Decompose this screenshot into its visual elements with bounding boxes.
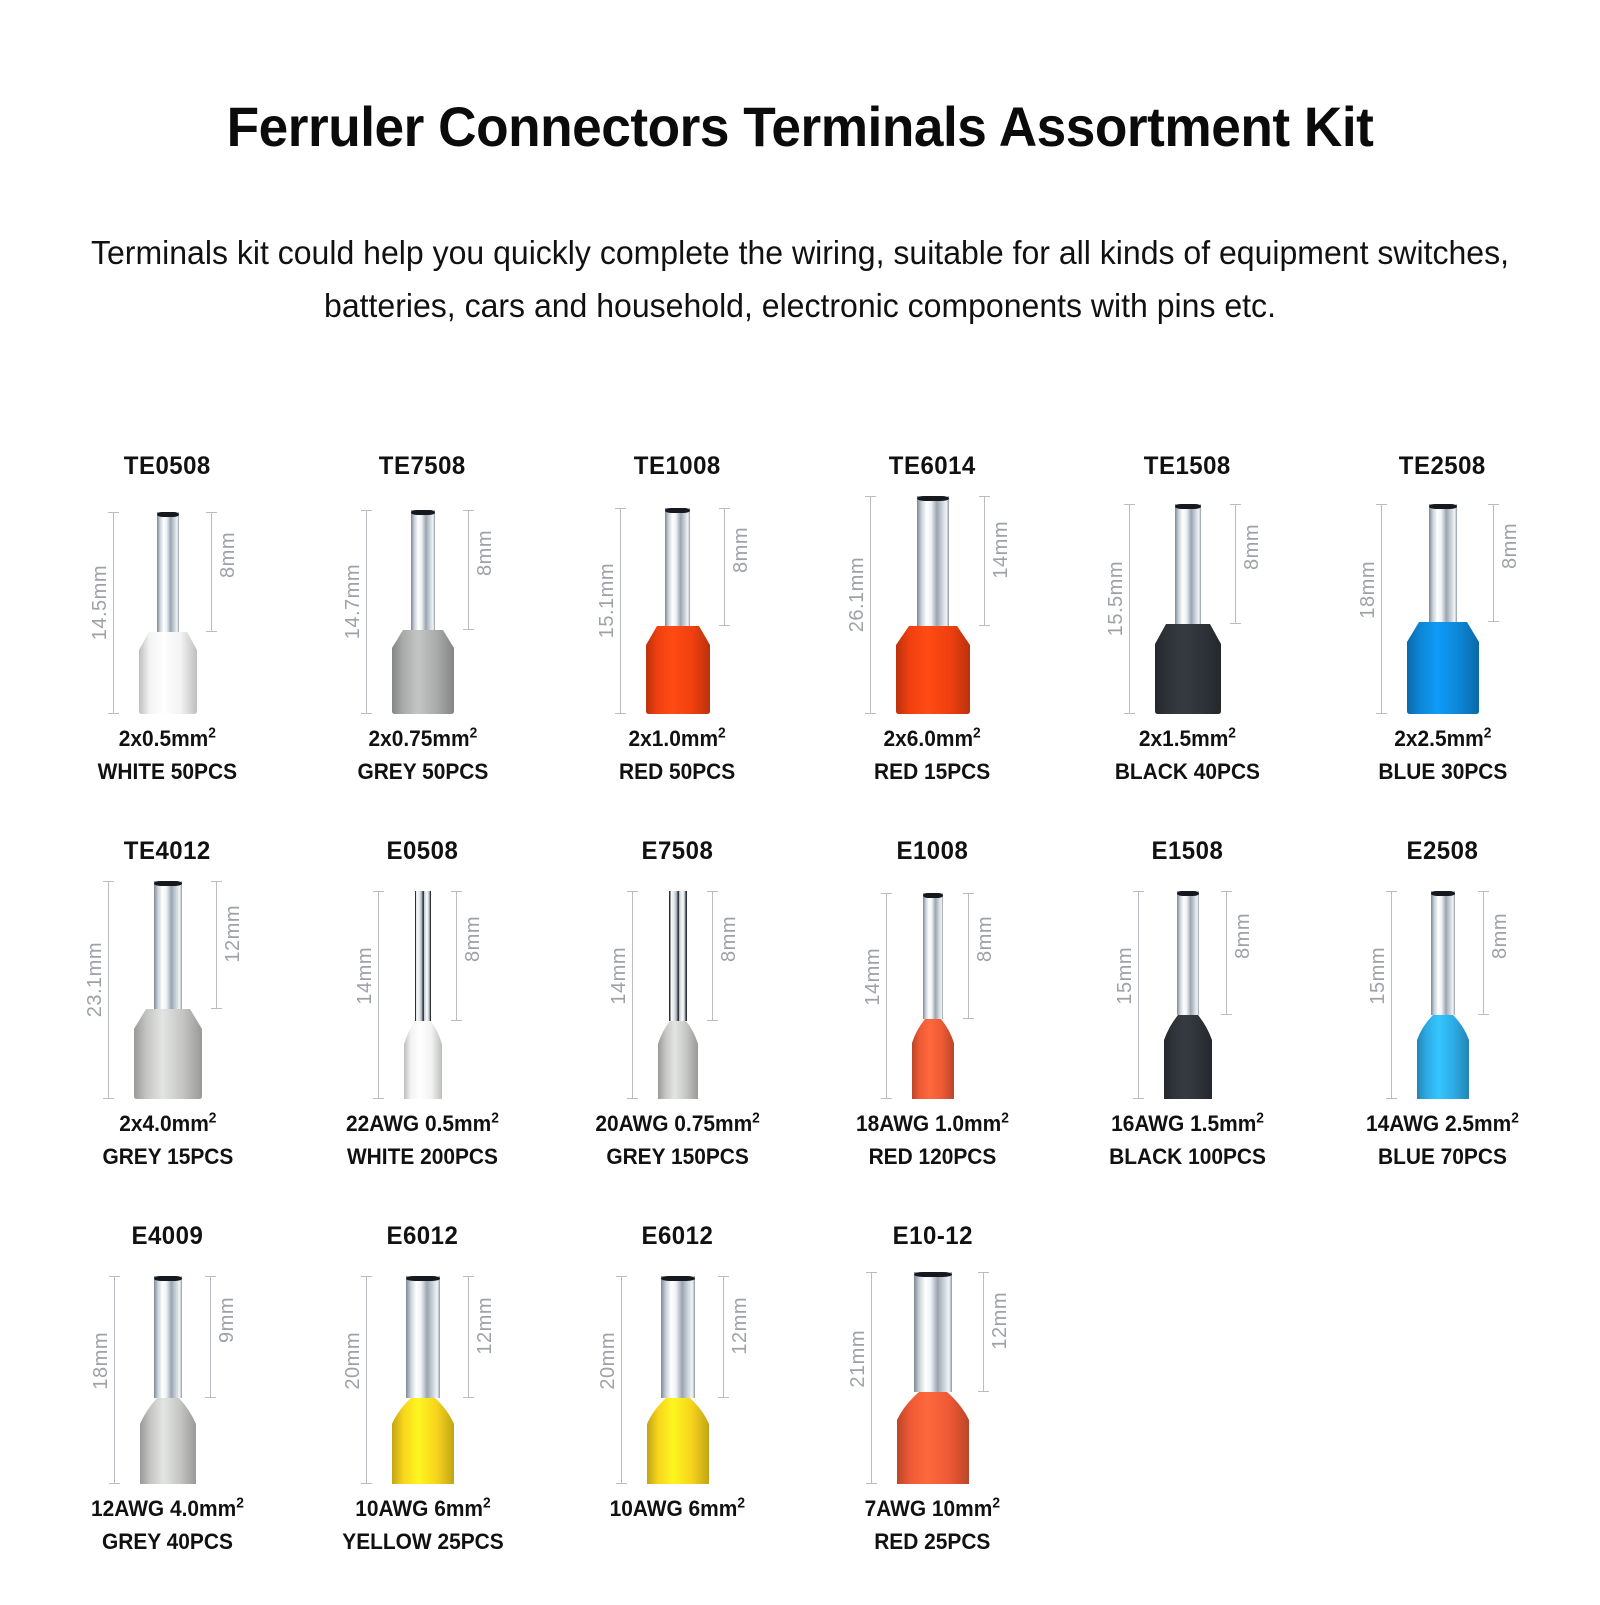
product-row: TE0508 14.5mm8mm2x0.5mm2WHITE 50PCSTE750… [40,450,1570,835]
metal-tube [157,512,179,632]
product-spec-text: 2x6.0mm [884,726,973,751]
plastic-collar [1155,624,1221,714]
product-spec: 10AWG 6mm2 [610,1492,745,1525]
tube-length-label: 8mm [718,916,741,962]
product-caption: 14AWG 2.5mm2BLUE 70PCS [1366,1107,1519,1173]
diagram-stage: 15.5mm8mm [1088,492,1288,714]
terminal-diagram: 14mm8mm [323,877,523,1099]
total-length-label: 15mm [1114,947,1137,1005]
terminal-graphic [134,881,202,1099]
metal-tube [154,881,182,1009]
total-length-label: 23.1mm [84,942,107,1017]
product-spec-superscript: 2 [208,726,216,742]
product-sku: E1508 [1152,835,1224,867]
tube-length-dimension-line [983,1272,984,1392]
product-card: TE1008 15.1mm8mm2x1.0mm2RED 50PCS [550,450,805,788]
metal-tube [661,1276,695,1398]
product-card: TE2508 18mm8mm2x2.5mm2BLUE 30PCS [1315,450,1570,788]
tube-length-dimension-line [712,891,713,1021]
product-spec-superscript: 2 [738,1496,746,1512]
diagram-stage: 20mm12mm [323,1262,523,1484]
diagram-stage: 14.7mm8mm [323,492,523,714]
total-length-dimension-line [886,893,887,1099]
total-length-label: 18mm [90,1332,113,1390]
product-quantity: RED 25PCS [865,1525,1000,1558]
total-length-label: 14mm [862,948,885,1006]
total-length-dimension-line [366,510,367,714]
terminal-diagram: 20mm12mm [578,1262,778,1484]
product-spec: 2x6.0mm2 [874,722,990,755]
product-quantity: RED 50PCS [619,755,735,788]
terminal-graphic [392,510,454,714]
terminal-graphic [896,496,970,714]
product-caption: 7AWG 10mm2RED 25PCS [865,1492,1000,1558]
product-caption: 2x1.0mm2RED 50PCS [619,722,735,788]
tube-length-dimension-line [468,1276,469,1398]
total-length-dimension-line [620,508,621,714]
product-card: E6012 20mm12mm10AWG 6mm2YELLOW 25PCS [295,1220,550,1558]
product-spec-superscript: 2 [469,726,477,742]
terminal-diagram: 15mm8mm [1088,877,1288,1099]
terminal-graphic [404,891,442,1099]
terminal-diagram: 18mm8mm [1343,492,1543,714]
product-sku: TE1008 [634,450,721,482]
product-caption: 12AWG 4.0mm2GREY 40PCS [91,1492,244,1558]
total-length-dimension-line [114,1276,115,1484]
tube-length-dimension-line [724,508,725,626]
tube-length-dimension-line [1483,891,1484,1015]
product-spec-text: 2x2.5mm [1394,726,1483,751]
tube-length-dimension-line [984,496,985,626]
page-title: Ferruler Connectors Terminals Assortment… [40,96,1560,158]
product-spec-text: 12AWG 4.0mm [91,1496,236,1521]
product-spec-superscript: 2 [236,1496,244,1512]
terminal-graphic [1155,504,1221,714]
total-length-dimension-line [113,512,114,714]
product-caption: 2x0.75mm2GREY 50PCS [357,722,488,788]
product-caption: 2x0.5mm2WHITE 50PCS [98,722,237,788]
product-sku: E10-12 [892,1220,972,1252]
product-sku: TE1508 [1144,450,1231,482]
metal-tube [1177,891,1199,1015]
product-spec-superscript: 2 [718,726,726,742]
total-length-dimension-line [1381,504,1382,714]
terminal-graphic [897,1272,969,1484]
plastic-collar [140,1398,196,1484]
product-spec-superscript: 2 [208,1111,216,1127]
tube-length-label: 12mm [729,1297,752,1355]
total-length-dimension-line [621,1276,622,1484]
terminal-graphic [139,512,197,714]
tube-length-label: 8mm [1241,524,1264,570]
page-subtitle: Terminals kit could help you quickly com… [82,226,1518,333]
product-spec-superscript: 2 [483,1496,491,1512]
product-spec: 2x2.5mm2 [1378,722,1507,755]
product-sku: E1008 [897,835,969,867]
diagram-stage: 15mm8mm [1088,877,1288,1099]
product-spec: 7AWG 10mm2 [865,1492,1000,1525]
plastic-collar [897,1392,969,1484]
tube-length-dimension-line [468,510,469,630]
diagram-stage: 23.1mm12mm [68,877,268,1099]
product-quantity: GREY 40PCS [91,1525,244,1558]
terminal-diagram: 14.5mm8mm [68,492,268,714]
product-quantity: RED 120PCS [856,1140,1009,1173]
product-sku: E4009 [132,1220,204,1252]
product-card: E6012 20mm12mm10AWG 6mm2 [550,1220,805,1525]
product-spec-superscript: 2 [993,1496,1001,1512]
total-length-label: 14mm [608,947,631,1005]
product-row: E4009 18mm9mm12AWG 4.0mm2GREY 40PCSE6012… [40,1220,1570,1605]
product-quantity: GREY 150PCS [595,1140,759,1173]
total-length-dimension-line [108,881,109,1099]
product-sku: TE6014 [889,450,976,482]
metal-tube [669,891,687,1021]
product-sku: E2508 [1407,835,1479,867]
product-caption: 18AWG 1.0mm2RED 120PCS [856,1107,1009,1173]
product-spec: 16AWG 1.5mm2 [1109,1107,1266,1140]
product-quantity: YELLOW 25PCS [342,1525,503,1558]
plastic-collar [658,1021,698,1099]
product-spec: 20AWG 0.75mm2 [595,1107,759,1140]
terminal-graphic [1164,891,1212,1099]
metal-tube [665,508,690,626]
terminal-graphic [392,1276,454,1484]
product-card: E10-12 21mm12mm7AWG 10mm2RED 25PCS [805,1220,1060,1558]
product-spec-superscript: 2 [1511,1111,1519,1127]
tube-length-label: 12mm [989,1292,1012,1350]
tube-length-label: 8mm [730,527,753,573]
product-caption: 2x4.0mm2GREY 15PCS [102,1107,233,1173]
product-quantity: WHITE 200PCS [346,1140,499,1173]
metal-tube [406,1276,440,1398]
product-spec-superscript: 2 [973,726,981,742]
total-length-label: 20mm [597,1332,620,1390]
total-length-label: 26.1mm [846,557,869,632]
tube-length-dimension-line [1493,504,1494,622]
product-caption: 10AWG 6mm2 [610,1492,745,1525]
diagram-stage: 14.5mm8mm [68,492,268,714]
metal-tube [917,496,949,626]
product-spec-superscript: 2 [752,1111,760,1127]
metal-tube [1175,504,1201,624]
tube-length-label: 12mm [222,905,245,963]
diagram-stage: 18mm8mm [1343,492,1543,714]
total-length-label: 18mm [1357,561,1380,619]
product-spec: 2x4.0mm2 [102,1107,233,1140]
product-spec: 18AWG 1.0mm2 [856,1107,1009,1140]
tube-length-label: 8mm [1232,913,1255,959]
product-quantity: BLUE 70PCS [1366,1140,1519,1173]
terminal-diagram: 23.1mm12mm [68,877,268,1099]
tube-length-dimension-line [456,891,457,1021]
product-caption: 16AWG 1.5mm2BLACK 100PCS [1109,1107,1266,1173]
total-length-dimension-line [1138,891,1139,1099]
product-spec: 12AWG 4.0mm2 [91,1492,244,1525]
product-quantity: BLUE 30PCS [1378,755,1507,788]
tube-length-label: 8mm [974,916,997,962]
tube-length-label: 8mm [474,530,497,576]
product-quantity: RED 15PCS [874,755,990,788]
product-infographic: Ferruler Connectors Terminals Assortment… [0,0,1600,1600]
product-spec-text: 7AWG 10mm [865,1496,993,1521]
terminal-graphic [647,1276,709,1484]
product-card: E2508 15mm8mm14AWG 2.5mm2BLUE 70PCS [1315,835,1570,1173]
product-spec-text: 2x0.75mm [368,726,469,751]
product-spec: 22AWG 0.5mm2 [346,1107,499,1140]
diagram-stage: 14mm8mm [578,877,778,1099]
plastic-collar [1407,622,1479,714]
product-grid: TE0508 14.5mm8mm2x0.5mm2WHITE 50PCSTE750… [40,450,1570,1605]
product-spec-text: 14AWG 2.5mm [1366,1111,1511,1136]
product-sku: E7508 [642,835,714,867]
product-spec-text: 16AWG 1.5mm [1111,1111,1256,1136]
product-caption: 10AWG 6mm2YELLOW 25PCS [342,1492,503,1558]
total-length-dimension-line [632,891,633,1099]
tube-length-label: 8mm [462,916,485,962]
product-caption: 2x6.0mm2RED 15PCS [874,722,990,788]
product-spec-text: 2x4.0mm [119,1111,208,1136]
product-spec: 2x1.5mm2 [1115,722,1260,755]
product-sku: TE2508 [1399,450,1486,482]
product-quantity: GREY 15PCS [102,1140,233,1173]
metal-tube [411,510,435,630]
product-quantity: BLACK 100PCS [1109,1140,1266,1173]
total-length-dimension-line [871,1272,872,1484]
terminal-graphic [658,891,698,1099]
terminal-diagram: 15.5mm8mm [1088,492,1288,714]
product-card: TE0508 14.5mm8mm2x0.5mm2WHITE 50PCS [40,450,295,788]
terminal-graphic [140,1276,196,1484]
product-row: TE4012 23.1mm12mm2x4.0mm2GREY 15PCSE0508… [40,835,1570,1220]
product-quantity: GREY 50PCS [357,755,488,788]
tube-length-label: 8mm [1499,523,1522,569]
product-spec-text: 10AWG 6mm [355,1496,483,1521]
total-length-label: 14mm [354,947,377,1005]
total-length-dimension-line [1129,504,1130,714]
tube-length-label: 8mm [217,532,240,578]
total-length-label: 15.5mm [1105,561,1128,636]
total-length-dimension-line [378,891,379,1099]
plastic-collar [647,1398,709,1484]
product-card: E7508 14mm8mm20AWG 0.75mm2GREY 150PCS [550,835,805,1173]
product-spec-superscript: 2 [491,1111,499,1127]
product-caption: 22AWG 0.5mm2WHITE 200PCS [346,1107,499,1173]
metal-tube [1429,504,1457,622]
product-spec-superscript: 2 [1256,1111,1264,1127]
terminal-diagram: 14mm8mm [578,877,778,1099]
metal-tube [914,1272,952,1392]
product-spec: 2x1.0mm2 [619,722,735,755]
plastic-collar [1164,1015,1212,1099]
product-card: E1008 14mm8mm18AWG 1.0mm2RED 120PCS [805,835,1060,1173]
total-length-dimension-line [870,496,871,714]
terminal-diagram: 18mm9mm [68,1262,268,1484]
diagram-stage: 18mm9mm [68,1262,268,1484]
product-spec-superscript: 2 [1001,1111,1009,1127]
total-length-label: 15mm [1367,947,1390,1005]
plastic-collar [646,626,710,714]
product-sku: TE0508 [124,450,211,482]
tube-length-dimension-line [1235,504,1236,624]
terminal-diagram: 21mm12mm [833,1262,1033,1484]
product-sku: E0508 [387,835,459,867]
product-caption: 20AWG 0.75mm2GREY 150PCS [595,1107,759,1173]
tube-length-label: 14mm [990,521,1013,579]
product-caption: 2x2.5mm2BLUE 30PCS [1378,722,1507,788]
product-spec-text: 2x1.5mm [1139,726,1228,751]
product-spec-text: 2x1.0mm [629,726,718,751]
product-spec: 14AWG 2.5mm2 [1366,1107,1519,1140]
plastic-collar [896,626,970,714]
diagram-stage: 15mm8mm [1343,877,1543,1099]
plastic-collar [139,632,197,714]
plastic-collar [912,1019,954,1099]
terminal-graphic [1417,891,1469,1099]
product-sku: TE4012 [124,835,211,867]
terminal-graphic [646,508,710,714]
tube-length-dimension-line [211,512,212,632]
total-length-label: 15.1mm [596,563,619,638]
terminal-diagram: 14.7mm8mm [323,492,523,714]
terminal-diagram: 20mm12mm [323,1262,523,1484]
terminal-diagram: 15.1mm8mm [578,492,778,714]
tube-length-dimension-line [968,893,969,1019]
product-spec-text: 20AWG 0.75mm [595,1111,752,1136]
tube-length-dimension-line [1226,891,1227,1015]
tube-length-dimension-line [216,881,217,1009]
metal-tube [923,893,943,1019]
product-card: E0508 14mm8mm22AWG 0.5mm2WHITE 200PCS [295,835,550,1173]
product-sku: E6012 [387,1220,459,1252]
terminal-diagram: 26.1mm14mm [833,492,1033,714]
total-length-label: 14.7mm [342,564,365,639]
metal-tube [154,1276,182,1398]
diagram-stage: 21mm12mm [833,1262,1033,1484]
product-spec: 2x0.5mm2 [98,722,237,755]
tube-length-label: 9mm [216,1297,239,1343]
metal-tube [1431,891,1455,1015]
tube-length-dimension-line [210,1276,211,1398]
product-card: E1508 15mm8mm16AWG 1.5mm2BLACK 100PCS [1060,835,1315,1173]
terminal-diagram: 15mm8mm [1343,877,1543,1099]
product-sku: TE7508 [379,450,466,482]
plastic-collar [392,1398,454,1484]
plastic-collar [134,1009,202,1099]
diagram-stage: 26.1mm14mm [833,492,1033,714]
product-spec-text: 2x0.5mm [119,726,208,751]
product-spec: 2x0.75mm2 [357,722,488,755]
diagram-stage: 14mm8mm [323,877,523,1099]
diagram-stage: 15.1mm8mm [578,492,778,714]
product-card: E4009 18mm9mm12AWG 4.0mm2GREY 40PCS [40,1220,295,1558]
diagram-stage: 14mm8mm [833,877,1033,1099]
header: Ferruler Connectors Terminals Assortment… [0,0,1600,333]
product-card: TE4012 23.1mm12mm2x4.0mm2GREY 15PCS [40,835,295,1173]
plastic-collar [404,1021,442,1099]
tube-length-label: 8mm [1489,913,1512,959]
total-length-label: 21mm [847,1330,870,1388]
terminal-graphic [912,893,954,1099]
tube-length-label: 12mm [474,1297,497,1355]
total-length-dimension-line [366,1276,367,1484]
metal-tube [415,891,431,1021]
terminal-diagram: 14mm8mm [833,877,1033,1099]
product-spec-text: 18AWG 1.0mm [856,1111,1001,1136]
product-card: TE7508 14.7mm8mm2x0.75mm2GREY 50PCS [295,450,550,788]
total-length-dimension-line [1391,891,1392,1099]
diagram-stage: 20mm12mm [578,1262,778,1484]
product-caption: 2x1.5mm2BLACK 40PCS [1115,722,1260,788]
product-spec: 10AWG 6mm2 [342,1492,503,1525]
product-card: TE6014 26.1mm14mm2x6.0mm2RED 15PCS [805,450,1060,788]
product-sku: E6012 [642,1220,714,1252]
tube-length-dimension-line [723,1276,724,1398]
product-spec-superscript: 2 [1483,726,1491,742]
plastic-collar [392,630,454,714]
product-card: TE1508 15.5mm8mm2x1.5mm2BLACK 40PCS [1060,450,1315,788]
product-quantity: WHITE 50PCS [98,755,237,788]
total-length-label: 14.5mm [89,565,112,640]
product-spec-superscript: 2 [1228,726,1236,742]
terminal-graphic [1407,504,1479,714]
total-length-label: 20mm [342,1332,365,1390]
product-spec-text: 10AWG 6mm [610,1496,738,1521]
product-quantity: BLACK 40PCS [1115,755,1260,788]
plastic-collar [1417,1015,1469,1099]
product-spec-text: 22AWG 0.5mm [346,1111,491,1136]
